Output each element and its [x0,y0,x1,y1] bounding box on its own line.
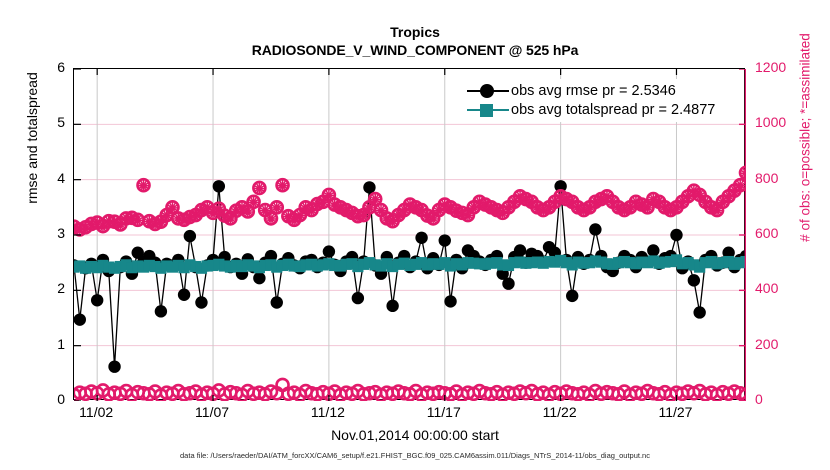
y-axis-right-label: # of obs: o=possible; *=assimilated [798,0,813,288]
legend-square-icon [467,100,509,119]
chart-page: Tropics RADIOSONDE_V_WIND_COMPONENT @ 52… [0,0,830,470]
series-obs-rejected-low [74,379,746,401]
y-axis-right-tick: 0 [755,391,815,407]
legend-label: obs avg rmse pr = 2.5346 [509,83,676,99]
x-axis-tick: 11/07 [177,404,247,420]
data-file-footer: data file: /Users/raeder/DAI/ATM_forcXX/… [0,451,830,460]
legend-item: obs avg rmse pr = 2.5346 [467,81,715,100]
x-axis-tick: 11/27 [640,404,710,420]
y-axis-left-label: rmse and totalspread [24,0,40,288]
chart-variable-title: RADIOSONDE_V_WIND_COMPONENT @ 525 hPa [0,41,830,60]
legend-item: obs avg totalspread pr = 2.4877 [467,100,715,119]
chart-title-block: Tropics RADIOSONDE_V_WIND_COMPONENT @ 52… [0,24,830,60]
x-axis-tick: 11/17 [409,404,479,420]
x-axis-tick: 11/22 [525,404,595,420]
x-axis-label: Nov.01,2014 00:00:00 start [0,427,830,443]
y-axis-left-tick: 1 [25,336,65,352]
y-axis-left-tick: 0 [25,391,65,407]
legend-circle-icon [467,81,509,100]
legend-label: obs avg totalspread pr = 2.4877 [509,102,715,118]
chart-region-title: Tropics [0,24,830,41]
y-axis-right-tick: 200 [755,336,815,352]
x-axis-tick: 11/12 [293,404,363,420]
chart-legend: obs avg rmse pr = 2.5346obs avg totalspr… [463,79,719,122]
x-axis-tick: 11/02 [61,404,131,420]
